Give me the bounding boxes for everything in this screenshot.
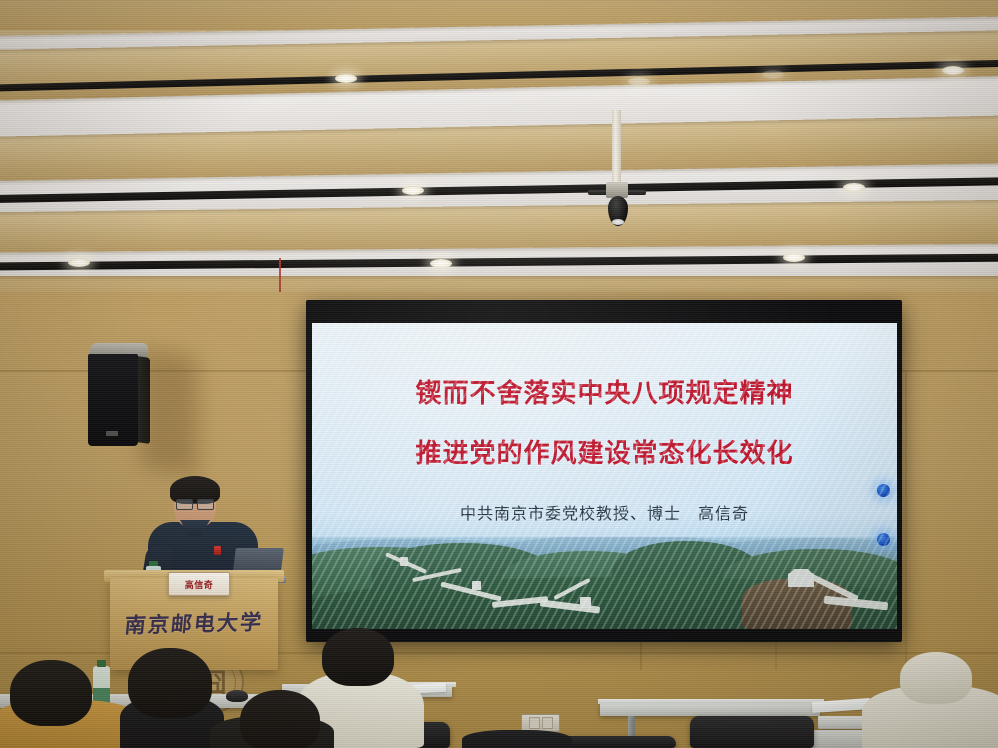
attendee-torso (462, 730, 572, 748)
wall-seam (905, 370, 907, 670)
attendee-head (10, 660, 92, 726)
switch-rocker[interactable] (542, 717, 553, 729)
speaker-logo (106, 431, 118, 436)
watchtower (580, 597, 591, 608)
attendee-head (240, 690, 320, 748)
attendee-head-covered (900, 652, 972, 704)
slide-title-line1: 锲而不舍落实中央八项规定精神 (312, 373, 897, 410)
downlight-icon (628, 77, 650, 86)
lecture-hall-photo: 囧 锲而不舍落实中央八项规定精神 推进党的作风建设常态化长效化 中共南京市委党校… (0, 0, 998, 748)
downlight-icon (942, 66, 964, 75)
watchtower (400, 557, 408, 566)
nameplate-text: 高信奇 (185, 578, 214, 591)
nameplate: 高信奇 (168, 572, 230, 596)
switch-rocker[interactable] (529, 717, 540, 729)
downlight-icon (68, 258, 90, 267)
chair (690, 716, 814, 748)
attendee-head (128, 648, 212, 718)
great-wall-photo (312, 537, 897, 629)
mouse (226, 690, 248, 702)
watchtower (472, 581, 481, 590)
screen-indicator-dot (877, 533, 890, 546)
ceiling (0, 0, 998, 300)
presenter-badge (214, 546, 221, 555)
downlight-icon (402, 186, 424, 195)
wall-speaker-icon (88, 343, 150, 448)
desk-edge (598, 699, 824, 704)
slide-title-line2: 推进党的作风建设常态化长效化 (312, 433, 897, 470)
desk (600, 702, 820, 716)
downlight-icon (783, 253, 805, 262)
podium-university-name: 南京邮电大学 (108, 606, 279, 640)
projection-screen: 锲而不舍落实中央八项规定精神 推进党的作风建设常态化长效化 中共南京市委党校教授… (312, 323, 897, 629)
downlight-icon (430, 259, 452, 268)
chair (556, 736, 676, 748)
speaker-side (136, 356, 150, 444)
camera-mount-pole (612, 110, 621, 186)
watchtower (788, 573, 814, 587)
screen-indicator-dot (877, 484, 890, 497)
downlight-icon (762, 70, 784, 79)
downlight-icon (335, 74, 357, 83)
lens-left (176, 499, 193, 510)
downlight-icon (843, 183, 865, 192)
lens-right (197, 499, 214, 510)
glasses-icon (176, 499, 214, 508)
slide-subtitle: 中共南京市委党校教授、博士 高信奇 (312, 500, 897, 524)
attendee-head (322, 628, 394, 686)
